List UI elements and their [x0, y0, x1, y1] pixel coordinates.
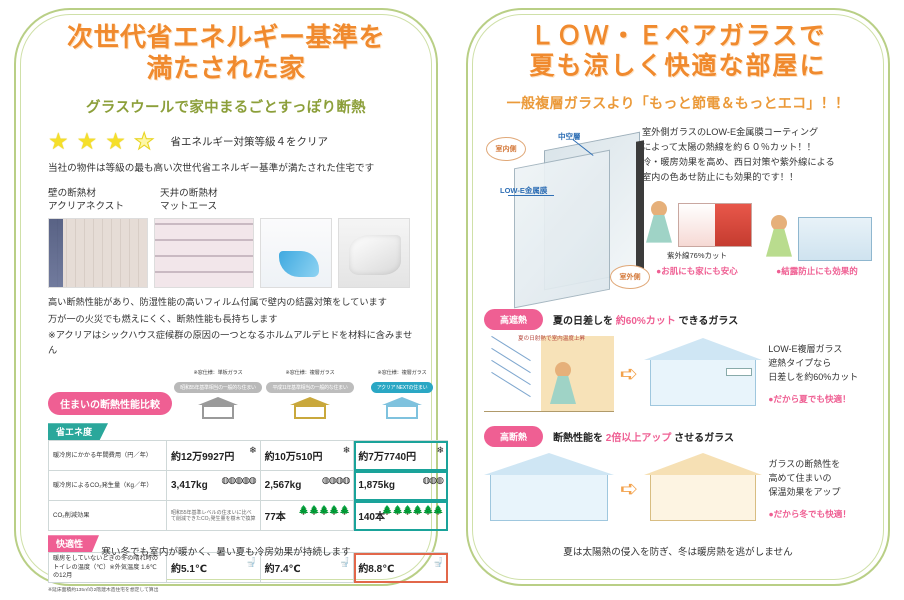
comparison-table: 暖冷房にかかる年間費用（円／年） 約12万9927円 ❄ 約10万510円 ❄ … [48, 440, 448, 531]
table-row: 暖冷房にかかる年間費用（円／年） 約12万9927円 ❄ 約10万510円 ❄ … [49, 441, 448, 471]
wall-material-name: アクリアネクスト [48, 201, 160, 214]
left-main-title: 次世代省エネルギー基準を 満たされた家 [32, 8, 420, 83]
heading-pre: 夏の日差しを [553, 316, 616, 327]
star-icon: ★ [48, 130, 69, 153]
house-icon [382, 397, 422, 419]
left-note-3: ※アクリアはシックハウス症候群の原因の一つとなるホルムアルデヒドを材料に含みませ… [48, 328, 420, 358]
summer-cap-3: 日差しを約60%カット [768, 370, 872, 384]
row-cost-value-2: 約10万510円 ❄ [260, 441, 354, 471]
illustration-row-winter: ➪ ガラスの断熱性を 高めて住まいの 保温効果をアップ ●だから冬でも快適！ [484, 453, 872, 525]
glass-description: 室外側ガラスのLOW-E金属膜コーティング によって太陽の熱線を約６０％カット！… [634, 125, 872, 295]
photo-material-hand [338, 218, 410, 288]
left-note-1: 高い断熱性能があり、防湿性能の高いフィルム付属で壁内の結露対策をしています [48, 295, 420, 310]
temp-col1: 約5.1℃ [171, 564, 207, 575]
ac-icon: ❄ [249, 445, 256, 456]
col1-spec: ※窓仕様：単板ガラス [172, 369, 264, 376]
right-subtitle: 一般複層ガラスより「もっと節電＆もっとエコ」！！ [484, 93, 872, 113]
sun-rays-icon [488, 342, 548, 396]
summer-caption: LOW-E複層ガラス 遮熱タイプなら 日差しを約60%カット ●だから夏でも快適… [762, 342, 872, 407]
row-cost-value-3: 約7万7740円 ❄ [354, 441, 448, 471]
ac-icon: ❄ [343, 445, 350, 456]
right-panel: ＬＯＷ・Ｅペアガラスで 夏も涼しく快適な部屋に 一般複層ガラスより「もっと節電＆… [452, 0, 904, 600]
uv-illustration [678, 203, 752, 247]
right-footer-text: 夏は太陽熱の侵入を防ぎ、冬は暖房熱を逃がしません [462, 544, 894, 558]
tree-icon: 🌲🌲🌲🌲🌲🌲 [382, 505, 443, 516]
heading-highlight: 2倍以上アップ [606, 433, 672, 444]
wall-material-title: 壁の断熱材 [48, 188, 160, 201]
winter-caption: ガラスの断熱性を 高めて住まいの 保温効果をアップ ●だから冬でも快適！ [762, 457, 872, 522]
left-note-2: 万が一の火災でも燃えにくく、断熱性能も長持ちします [48, 312, 420, 327]
comparison-col-2: ※窓仕様：複層ガラス 平成11年基準相当の一般的な住まい [264, 369, 356, 419]
star-rating: ★ ★ ★ ★ 省エネルギー対策等級４をクリア [48, 130, 420, 153]
section-heading-dannetsu: 断熱性能を 2倍以上アップ させるガラス [553, 429, 734, 444]
heading-post: できるガラス [676, 316, 738, 327]
winter-cap-3: 保温効果をアップ [768, 485, 872, 499]
arrow-right-icon: ➪ [620, 361, 638, 387]
toilet-icon: 🚽 [339, 557, 349, 568]
table-row: CO₂削減効果 昭和55年基準レベルの住まいに比べて削減できたCO₂発生量を樹木… [49, 501, 448, 531]
co2-col3: 1,875kg [358, 480, 395, 491]
summer-wall-scene: 夏の日射熱で室内温度上昇 [484, 336, 614, 412]
material-labels: 壁の断熱材 アクリアネクスト 天井の断熱材 マットエース [48, 188, 420, 214]
col3-spec: ※窓仕様：複層ガラス [356, 369, 448, 376]
person-icon [762, 215, 796, 261]
row-co2-value-3: 1,875kg ◍◍◍ [354, 471, 448, 501]
cool-house-icon [644, 338, 762, 410]
right-main-title: ＬＯＷ・Ｅペアガラスで 夏も涼しく快適な部屋に [484, 8, 872, 81]
comparison-block: 住まいの断熱性能比較 ※窓仕様：単板ガラス 昭和55年基準相当の一般的な住まい … [48, 367, 448, 593]
photo-ceiling-insulation [154, 218, 254, 288]
balloon-icon: ◍◍◍◍◍ [221, 475, 255, 486]
ceiling-material-name: マットエース [160, 201, 218, 214]
glass-section: 室内側 室外側 中空層 LOW-E金属膜 室外側ガラスのLOW-E金属膜コーティ… [484, 125, 872, 295]
glass-desc-line-1: 室外側ガラスのLOW-E金属膜コーティング [642, 125, 872, 140]
co2-col1: 3,417kg [171, 480, 208, 491]
comparison-col-1: ※窓仕様：単板ガラス 昭和55年基準相当の一般的な住まい [172, 369, 264, 419]
row-label-co2: 暖冷房によるCO₂発生量（Kg／年） [49, 471, 167, 501]
uv-note: ●お肌にも家にも安心 [642, 265, 752, 277]
cost-col3: 約7万7740円 [358, 452, 416, 463]
winter-cap-1: ガラスの断熱性を [768, 457, 872, 471]
condensation-illustration [798, 217, 872, 261]
section-header-shanetsu: 高遮熱 夏の日差しを 約60%カット できるガラス [484, 309, 872, 330]
row-trees-value-3: 140本 🌲🌲🌲🌲🌲🌲 [354, 501, 448, 531]
brochure-page: 次世代省エネルギー基準を 満たされた家 グラスウールで家中まるごとすっぽり断熱 … [0, 0, 904, 600]
benefit-illustrations: 紫外線76%カット ●お肌にも家にも安心 ●結露防止にも効果的 [642, 201, 872, 277]
section-chip-dannetsu: 高断熱 [484, 426, 543, 447]
tree-icon: 🌲🌲🌲🌲🌲 [298, 505, 349, 516]
left-title-line1: 次世代省エネルギー基準を [67, 22, 385, 52]
trees-col2: 77本 [265, 512, 286, 523]
col3-pill: アクリア NEXTの住まい [371, 382, 434, 393]
glass-desc-line-2: によって太陽の熱線を約６０％カット！！ [642, 140, 872, 155]
house-icon [198, 397, 238, 419]
uv-caption: 紫外線76%カット [642, 250, 752, 261]
co2-col2: 2,567kg [265, 480, 302, 491]
col1-pill: 昭和55年基準相当の一般的な住まい [174, 382, 261, 393]
glass-pane-inner [514, 150, 610, 309]
section-tab-energy: 省エネ度 [48, 423, 108, 440]
section-heading-shanetsu: 夏の日差しを 約60%カット できるガラス [553, 312, 738, 327]
heading-pre: 断熱性能を [553, 433, 606, 444]
summer-cap-1: LOW-E複層ガラス [768, 342, 872, 356]
left-subtitle: グラスウールで家中まるごとすっぽり断熱 [32, 96, 420, 117]
heading-post: させるガラス [671, 433, 734, 444]
summer-scene-caption: 夏の日射熱で室内温度上昇 [518, 334, 585, 342]
star-icon-hollow: ★ [134, 130, 155, 153]
photo-wall-insulation [48, 218, 148, 288]
left-panel: 次世代省エネルギー基準を 満たされた家 グラスウールで家中まるごとすっぽり断熱 … [0, 0, 452, 600]
stars-caption: 省エネルギー対策等級４をクリア [171, 134, 329, 149]
row-label-cost: 暖冷房にかかる年間費用（円／年） [49, 441, 167, 471]
col2-pill: 平成11年基準相当の一般的な住まい [266, 382, 353, 393]
section-chip-shanetsu: 高遮熱 [484, 309, 543, 330]
photo-moisture-film [260, 218, 332, 288]
illustration-row-summer: 夏の日射熱で室内温度上昇 ➪ LOW-E複層ガラス 遮熱タイプなら 日差しを約6… [484, 336, 872, 412]
toilet-icon: 🚽 [245, 557, 255, 568]
condensation-note: ●結露防止にも効果的 [762, 265, 872, 277]
row-cost-value-1: 約12万9927円 ❄ [167, 441, 261, 471]
cost-col2: 約10万510円 [265, 452, 323, 463]
comparison-col-3: ※窓仕様：複層ガラス アクリア NEXTの住まい [356, 369, 448, 419]
star-icon: ★ [77, 130, 98, 153]
left-footer-text: 寒い冬でも室内が暖かく、暑い夏も冷房効果が持続します [10, 544, 442, 558]
left-title-line2: 満たされた家 [32, 53, 420, 84]
row-co2-value-1: 3,417kg ◍◍◍◍◍ [167, 471, 261, 501]
summer-cap-2: 遮熱タイプなら [768, 356, 872, 370]
section-header-dannetsu: 高断熱 断熱性能を 2倍以上アップ させるガラス [484, 426, 872, 447]
heading-highlight: 約60%カット [616, 316, 676, 327]
cost-col1: 約12万9927円 [171, 452, 234, 463]
row-trees-note: 昭和55年基準レベルの住まいに比べて削減できたCO₂発生量を樹木で換算 [167, 501, 261, 531]
balloon-icon: ◍◍◍◍ [322, 475, 349, 486]
material-label-ceiling: 天井の断熱材 マットエース [160, 188, 218, 214]
table-row: 暖冷房によるCO₂発生量（Kg／年） 3,417kg ◍◍◍◍◍ 2,567kg… [49, 471, 448, 501]
arrow-right-icon: ➪ [620, 476, 638, 502]
glass-desc-line-4: 室内の色あせ防止にも効果的です！！ [642, 170, 872, 185]
warm-house-icon [644, 453, 762, 525]
glass-desc-line-3: 冷・暖房効果を高め、西日対策や紫外線による [642, 155, 872, 170]
ac-icon: ❄ [436, 445, 443, 456]
leader-line [508, 195, 554, 196]
col2-spec: ※窓仕様：複層ガラス [264, 369, 356, 376]
comparison-header: 住まいの断熱性能比較 ※窓仕様：単板ガラス 昭和55年基準相当の一般的な住まい … [48, 367, 448, 419]
left-lead-text: 当社の物件は等級の最も高い次世代省エネルギー基準が満たされた住宅です [48, 162, 420, 176]
person-icon [642, 201, 676, 247]
toilet-icon: 🚽 [433, 557, 443, 568]
benefit-uv: 紫外線76%カット ●お肌にも家にも安心 [642, 201, 752, 277]
row-co2-value-2: 2,567kg ◍◍◍◍ [260, 471, 354, 501]
house-icon [290, 397, 330, 419]
summer-cap-note: ●だから夏でも快適！ [768, 393, 872, 407]
balloon-icon: ◍◍◍ [422, 475, 443, 486]
material-photos [48, 218, 420, 288]
label-inside: 室内側 [486, 137, 526, 161]
winter-cap-2: 高めて住まいの [768, 471, 872, 485]
person-icon [546, 362, 580, 408]
right-title-line1: ＬＯＷ・Ｅペアガラスで [530, 22, 827, 50]
material-label-wall: 壁の断熱材 アクリアネクスト [48, 188, 160, 214]
ac-unit-icon [726, 368, 752, 376]
star-icon: ★ [105, 130, 126, 153]
comparison-badge: 住まいの断熱性能比較 [48, 392, 172, 415]
glass-diagram: 室内側 室外側 中空層 LOW-E金属膜 [484, 125, 634, 295]
table-footnote: ※延床面積約135㎡の2階建木造住宅を想定して算出 [48, 586, 448, 593]
ceiling-material-title: 天井の断熱材 [160, 188, 218, 201]
temp-col3: 約8.8℃ [358, 564, 394, 575]
row-label-trees: CO₂削減効果 [49, 501, 167, 531]
row-trees-value-2: 77本 🌲🌲🌲🌲🌲 [260, 501, 354, 531]
cold-house-icon [484, 453, 614, 525]
label-outside: 室外側 [610, 265, 650, 289]
temp-col2: 約7.4℃ [265, 564, 301, 575]
winter-cap-note: ●だから冬でも快適！ [768, 508, 872, 522]
benefit-condensation: ●結露防止にも効果的 [762, 215, 872, 277]
label-air-layer: 中空層 [558, 131, 581, 142]
right-title-line2: 夏も涼しく快適な部屋に [484, 52, 872, 82]
